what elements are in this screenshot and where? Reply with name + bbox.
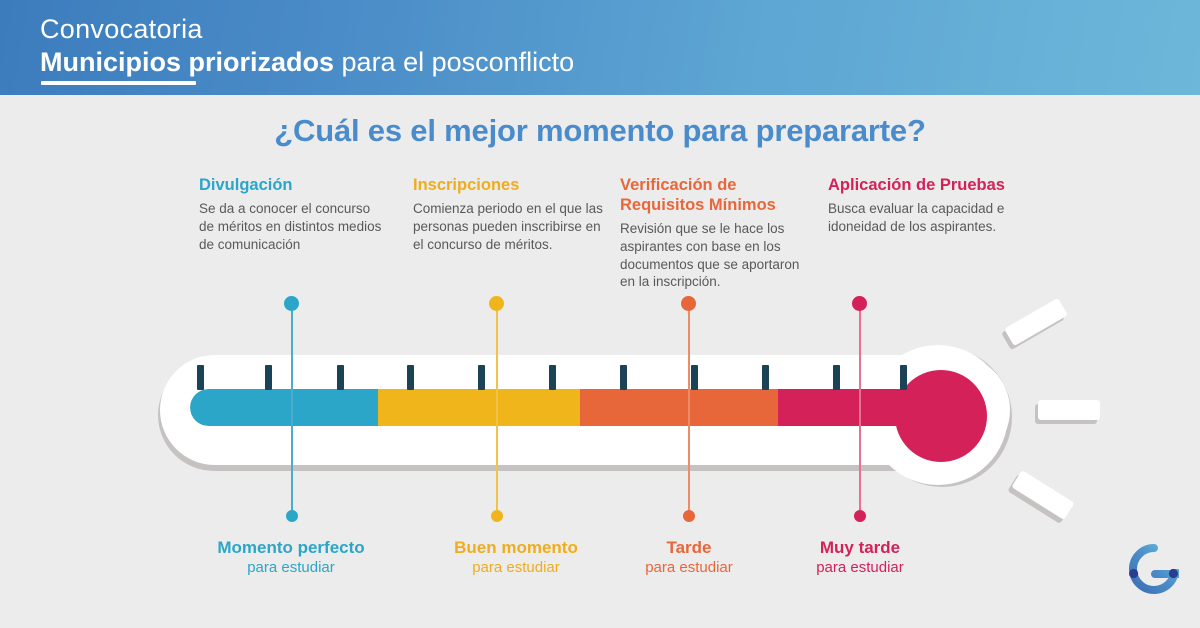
- header-line-1: Convocatoria: [40, 14, 574, 46]
- header-line-2-strong: Municipios priorizados: [40, 47, 334, 77]
- page-header: Convocatoria Municipios priorizados para…: [0, 0, 1200, 95]
- header-underline-rule: [41, 81, 196, 85]
- bottom-label-muy-tarde: Muy tarde para estudiar: [752, 537, 968, 578]
- stage-block-verificacion: Verificación de Requisitos Mínimos Revis…: [620, 176, 816, 291]
- bottom-label-momento-perfecto: Momento perfecto para estudiar: [183, 537, 399, 578]
- connector-dot-bottom-aplicacion: [854, 510, 866, 522]
- stage-title: Verificación de Requisitos Mínimos: [620, 176, 816, 216]
- thermometer-graphic: [150, 345, 1030, 485]
- header-text-block: Convocatoria Municipios priorizados para…: [40, 14, 574, 79]
- thermometer-tick: [762, 365, 769, 390]
- thermometer-tick: [900, 365, 907, 390]
- brand-logo-g-icon: [1128, 543, 1180, 595]
- stage-block-divulgacion: Divulgación Se da a conocer el concurso …: [199, 176, 384, 254]
- bottom-label-sub: para estudiar: [183, 558, 399, 578]
- ray-icon-2: [1038, 400, 1100, 420]
- thermometer-tick: [549, 365, 556, 390]
- stage-title: Divulgación: [199, 176, 384, 196]
- connector-line-aplicacion: [859, 303, 861, 518]
- thermometer-fill-track: [190, 389, 950, 426]
- connector-line-inscripciones: [496, 303, 498, 518]
- thermometer-tick: [478, 365, 485, 390]
- thermometer-segment-inscripciones: [378, 389, 580, 426]
- connector-dot-bottom-inscripciones: [491, 510, 503, 522]
- thermometer-segment-verificacion: [580, 389, 778, 426]
- page-title: ¿Cuál es el mejor momento para preparart…: [0, 113, 1200, 149]
- connector-dot-bottom-divulgacion: [286, 510, 298, 522]
- header-line-2: Municipios priorizados para el posconfli…: [40, 47, 574, 79]
- bottom-label-strong: Momento perfecto: [183, 537, 399, 558]
- connector-dot-top-divulgacion: [284, 296, 299, 311]
- thermometer-tick: [337, 365, 344, 390]
- bottom-label-strong: Muy tarde: [752, 537, 968, 558]
- thermometer-tick: [407, 365, 414, 390]
- thermometer-tick: [197, 365, 204, 390]
- connector-dot-bottom-verificacion: [683, 510, 695, 522]
- thermometer-tick: [265, 365, 272, 390]
- stage-block-aplicacion: Aplicación de Pruebas Busca evaluar la c…: [828, 176, 1056, 236]
- connector-dot-top-inscripciones: [489, 296, 504, 311]
- connector-dot-top-verificacion: [681, 296, 696, 311]
- stage-description: Se da a conocer el concurso de méritos e…: [199, 200, 384, 254]
- stage-title: Aplicación de Pruebas: [828, 176, 1056, 196]
- thermometer-tick: [620, 365, 627, 390]
- stage-title: Inscripciones: [413, 176, 605, 196]
- thermometer-tick: [833, 365, 840, 390]
- connector-dot-top-aplicacion: [852, 296, 867, 311]
- thermometer-segment-divulgacion: [190, 389, 378, 426]
- thermometer-tick: [691, 365, 698, 390]
- thermometer-bulb-fill: [895, 370, 987, 462]
- stage-description: Revisión que se le hace los aspirantes c…: [620, 220, 816, 292]
- bottom-label-sub: para estudiar: [752, 558, 968, 578]
- stage-block-inscripciones: Inscripciones Comienza periodo en el que…: [413, 176, 605, 254]
- stage-description: Comienza periodo en el que las personas …: [413, 200, 605, 254]
- stage-description: Busca evaluar la capacidad e idoneidad d…: [828, 200, 1056, 236]
- header-line-2-light: para el posconflicto: [334, 47, 574, 77]
- connector-line-verificacion: [688, 303, 690, 518]
- connector-line-divulgacion: [291, 303, 293, 518]
